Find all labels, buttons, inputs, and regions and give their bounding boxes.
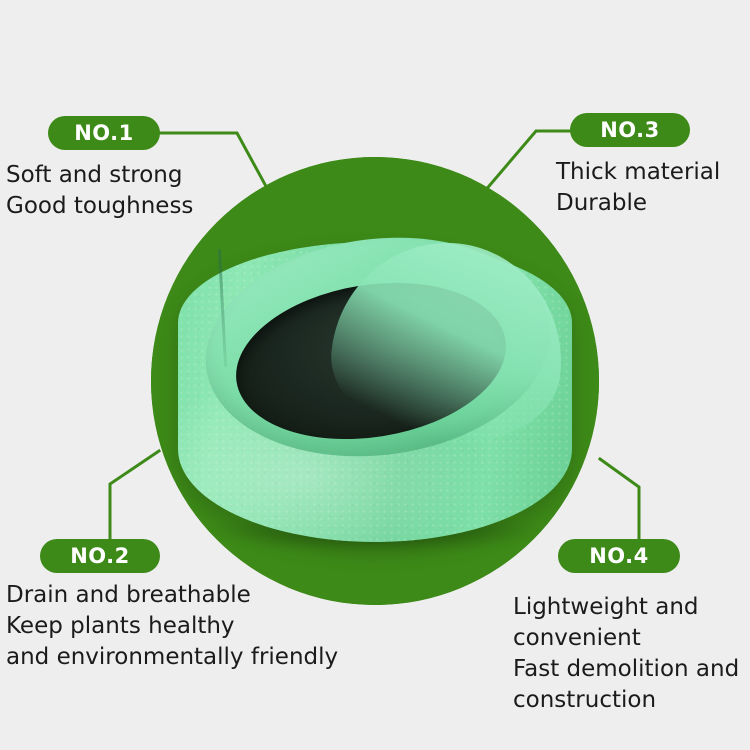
feature-text-no1: Soft and strong Good toughness: [6, 160, 193, 222]
badge-no2: NO.2: [40, 539, 160, 573]
feature-text-no2: Drain and breathable Keep plants healthy…: [6, 580, 338, 673]
badge-no4-label: NO.4: [589, 544, 649, 568]
badge-no3: NO.3: [570, 113, 690, 147]
feature-text-no4: Lightweight and convenient Fast demoliti…: [513, 592, 739, 716]
badge-no3-label: NO.3: [600, 118, 660, 142]
badge-no2-label: NO.2: [70, 544, 130, 568]
connector-no4: [600, 459, 639, 539]
badge-no4: NO.4: [558, 539, 680, 573]
badge-no1: NO.1: [48, 116, 160, 150]
connector-no2: [110, 451, 159, 539]
badge-no1-label: NO.1: [74, 121, 134, 145]
feature-text-no3: Thick material Durable: [556, 157, 720, 219]
infographic-canvas: NO.1 Soft and strong Good toughness NO.3…: [0, 0, 750, 750]
